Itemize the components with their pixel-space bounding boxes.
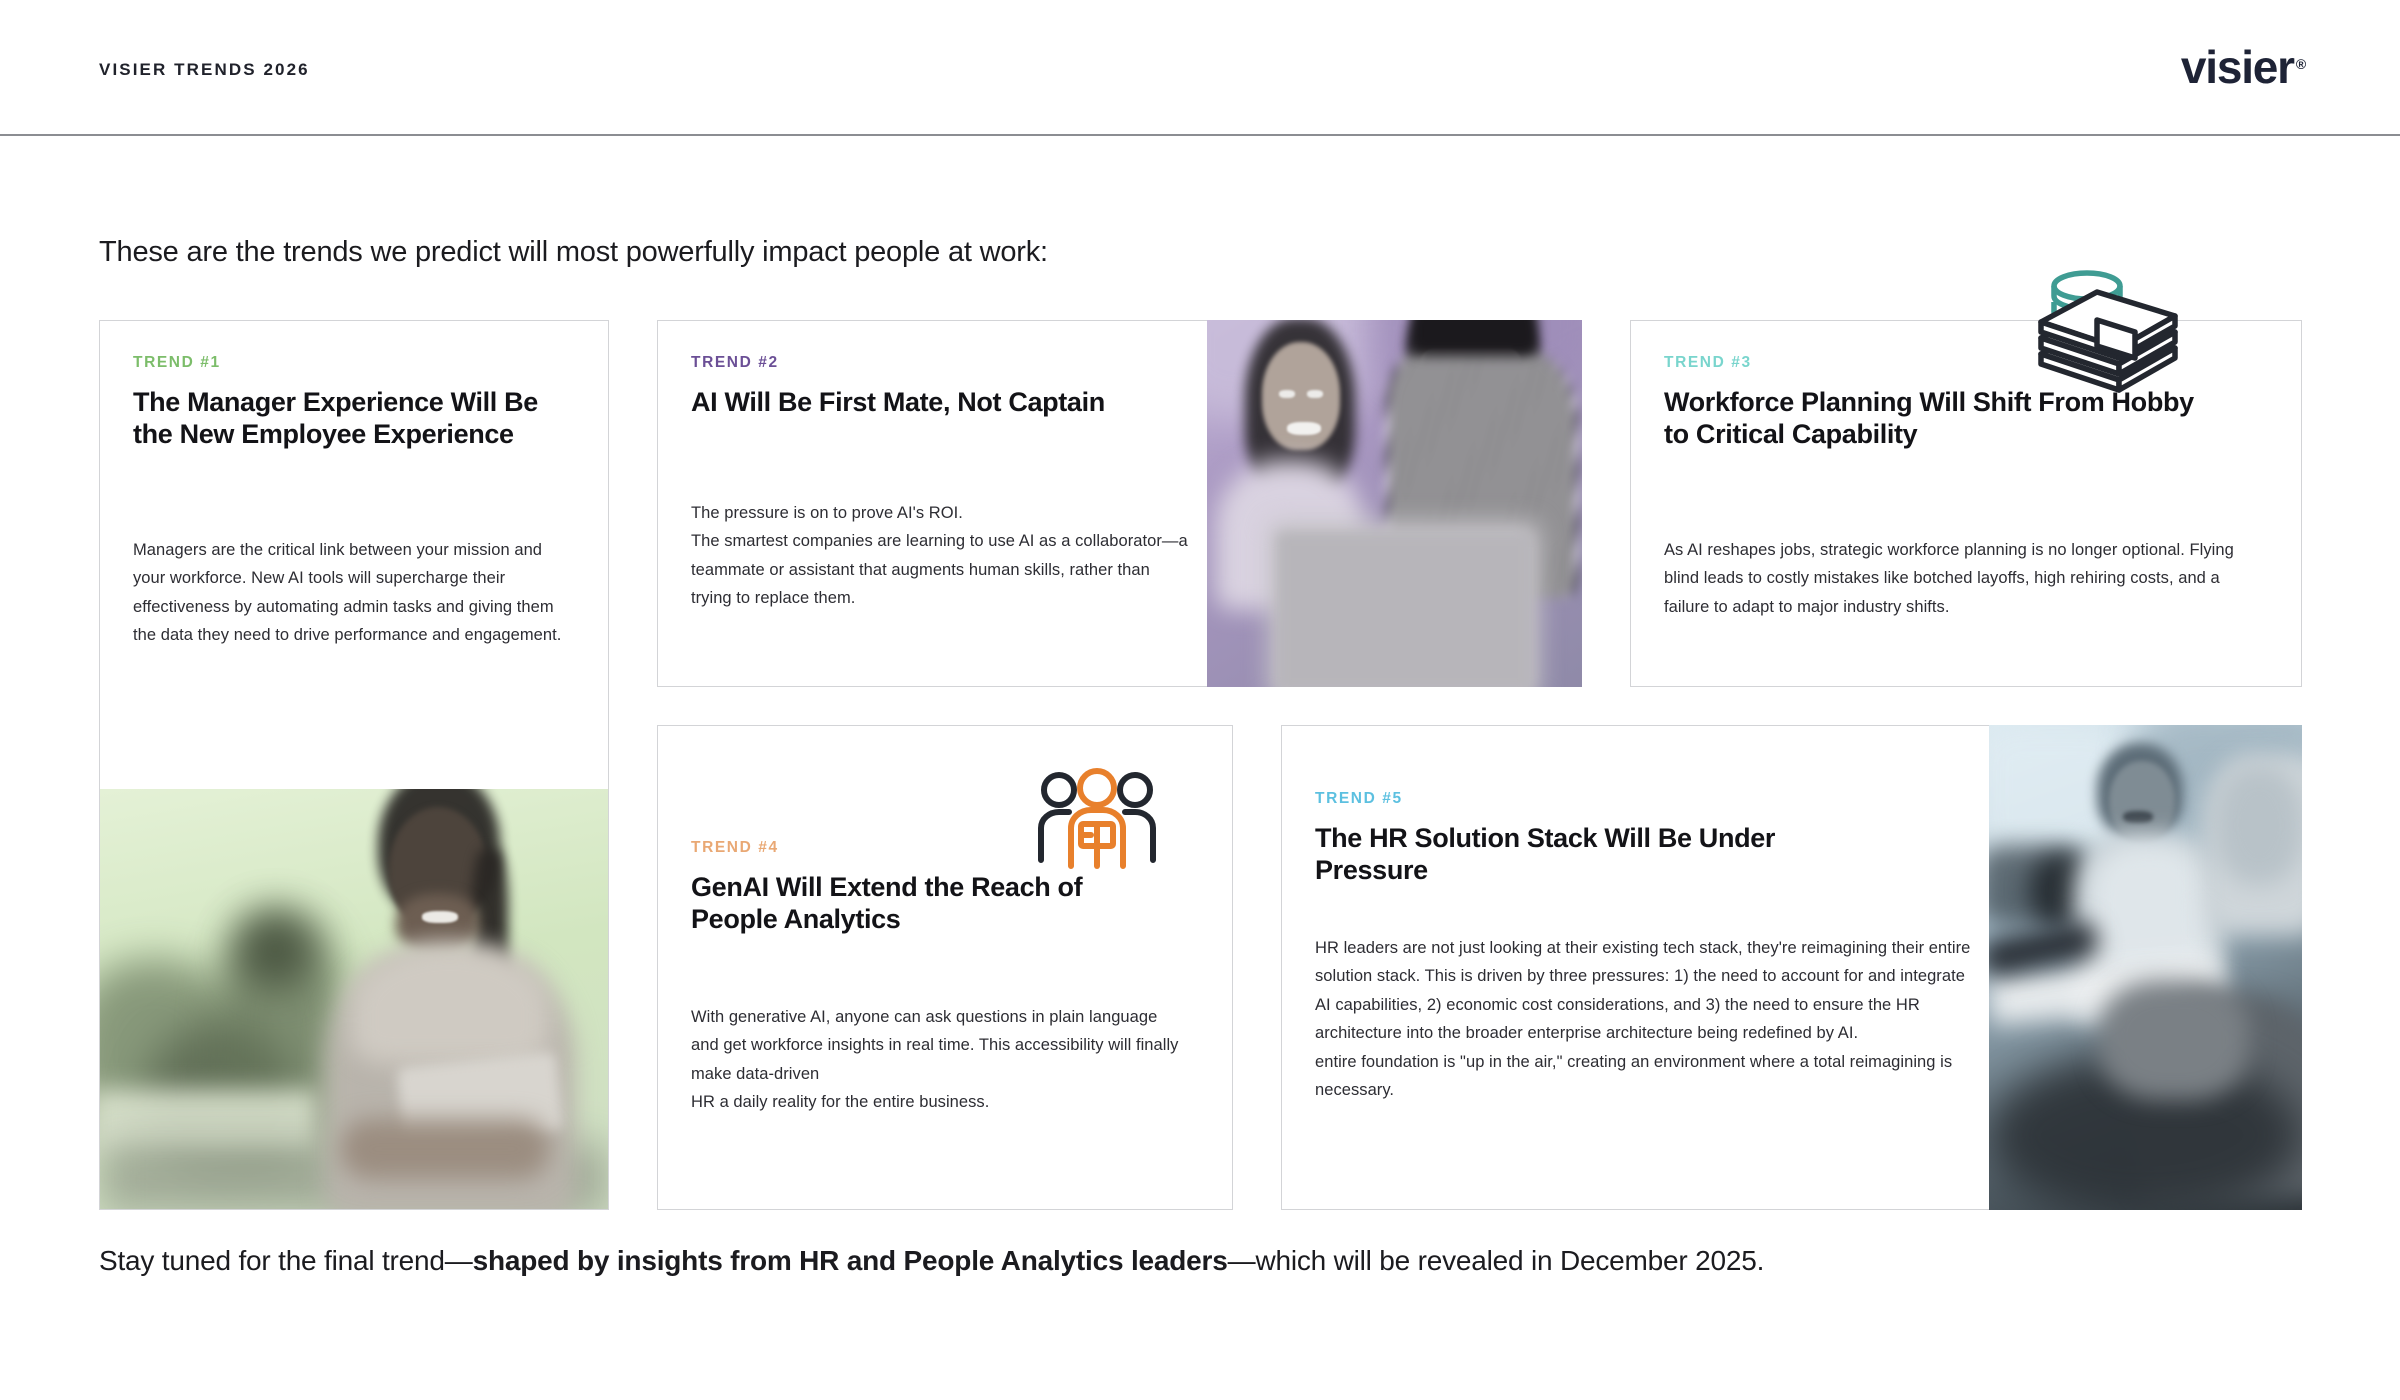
trend-5-eyebrow: TREND #5: [1315, 790, 1403, 808]
trend-4-eyebrow: TREND #4: [691, 839, 779, 857]
trend-4-title: GenAI Will Extend the Reach of People An…: [691, 872, 1091, 935]
cash-stack-icon: [2025, 262, 2195, 407]
trend-4-body: With generative AI, anyone can ask quest…: [691, 1003, 1181, 1117]
trend-3-body: As AI reshapes jobs, strategic workforce…: [1664, 536, 2269, 621]
people-group-icon: [1037, 766, 1157, 876]
trend-3-eyebrow: TREND #3: [1664, 354, 1752, 372]
footer-note: Stay tuned for the final trend—shaped by…: [99, 1245, 1764, 1277]
page-title: These are the trends we predict will mos…: [99, 236, 1048, 269]
trends-page: VISIER TRENDS 2026 visier® These are the…: [0, 0, 2400, 1400]
trend-card-1[interactable]: TREND #1 The Manager Experience Will Be …: [99, 320, 609, 1210]
trend-card-3[interactable]: TREND #3 Workforce Planning Will Shift F…: [1630, 320, 2302, 687]
trend-5-photo: [1989, 725, 2302, 1210]
trend-1-photo: [100, 789, 608, 1209]
trend-2-body: The pressure is on to prove AI's ROI. Th…: [691, 499, 1191, 613]
trend-1-title: The Manager Experience Will Be the New E…: [133, 387, 583, 450]
footer-lead: Stay tuned for the final trend—: [99, 1245, 473, 1276]
trend-1-body: Managers are the critical link between y…: [133, 536, 578, 650]
footer-bold: shaped by insights from HR and People An…: [473, 1245, 1228, 1276]
visier-logo: visier®: [2181, 44, 2305, 90]
header-eyebrow: VISIER TRENDS 2026: [99, 60, 310, 80]
trend-1-eyebrow: TREND #1: [133, 354, 221, 372]
trend-5-body: HR leaders are not just looking at their…: [1315, 934, 1975, 1104]
trend-2-title: AI Will Be First Mate, Not Captain: [691, 387, 1171, 419]
trend-2-eyebrow: TREND #2: [691, 354, 779, 372]
logo-wordmark: visier: [2181, 41, 2294, 93]
footer-tail: —which will be revealed in December 2025…: [1228, 1245, 1765, 1276]
trend-5-title: The HR Solution Stack Will Be Under Pres…: [1315, 823, 1785, 886]
page-header: VISIER TRENDS 2026 visier®: [0, 0, 2400, 136]
registered-trademark-icon: ®: [2296, 56, 2305, 72]
trend-2-photo: [1207, 320, 1582, 687]
